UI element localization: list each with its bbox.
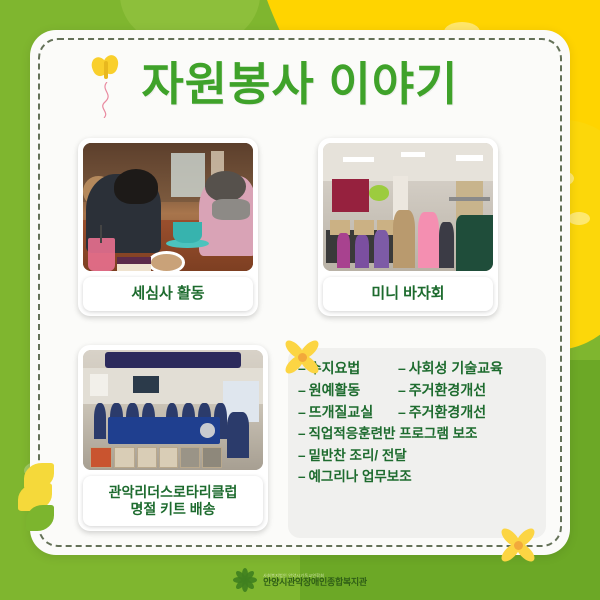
activity-item: –사회성 기술교육 xyxy=(398,360,503,376)
activity-row: –밑반찬 조리/ 전달 xyxy=(298,448,540,464)
background-dot xyxy=(568,212,590,225)
photo-mini-bazaar xyxy=(323,143,493,271)
photo-caption-line1: 관악리더스로타리클럽 xyxy=(109,484,238,502)
bullet-dash: – xyxy=(298,448,306,463)
bullet-dash: – xyxy=(298,382,306,398)
activity-item: –직업적응훈련반 프로그램 보조 xyxy=(298,426,477,442)
activity-item: –예그리나 업무보조 xyxy=(298,469,412,485)
activity-item: –원예활동 xyxy=(298,382,398,398)
activity-row: –수지요법 –사회성 기술교육 xyxy=(298,360,540,376)
page-title: 자원봉사 이야기 xyxy=(0,48,600,114)
activity-label: 사회성 기술교육 xyxy=(409,360,503,376)
photo-caption: 세심사 활동 xyxy=(83,277,253,311)
activity-label: 직업적응훈련반 프로그램 보조 xyxy=(309,426,478,441)
photo-rotary-donation xyxy=(83,350,263,470)
activity-list-panel: –수지요법 –사회성 기술교육 –원예활동 –주거환경개선 –뜨개질교실 –주거… xyxy=(288,348,546,538)
leaf-icon xyxy=(18,463,72,535)
photo-card-bazaar[interactable]: 미니 바자회 xyxy=(318,138,498,316)
bullet-dash: – xyxy=(398,360,406,376)
activity-label: 밑반찬 조리/ 전달 xyxy=(309,448,407,463)
activity-row: –원예활동 –주거환경개선 xyxy=(298,382,540,398)
footer: 사회복지법인 안양시기독교연합회 안양시관악장애인종합복지관 xyxy=(0,568,600,592)
activity-item: –주거환경개선 xyxy=(398,382,486,398)
activity-label: 주거환경개선 xyxy=(409,404,486,420)
bullet-dash: – xyxy=(398,382,406,398)
activity-row: –뜨개질교실 –주거환경개선 xyxy=(298,404,540,420)
footer-organization-name: 안양시관악장애인종합복지관 xyxy=(263,578,367,587)
activity-item: –뜨개질교실 xyxy=(298,404,398,420)
photo-card-sesimsa[interactable]: 세심사 활동 xyxy=(78,138,258,316)
photo-card-rotary[interactable]: 관악리더스로타리클럽 명절 키트 배송 xyxy=(78,345,268,531)
bullet-dash: – xyxy=(398,404,406,420)
poster: 자원봉사 이야기 세심사 활동 xyxy=(0,0,600,600)
bullet-dash: – xyxy=(298,404,306,420)
photo-caption-line2: 명절 키트 배송 xyxy=(109,501,238,519)
activity-label: 예그리나 업무보조 xyxy=(309,469,412,484)
flower-icon xyxy=(282,337,322,377)
activity-item: –주거환경개선 xyxy=(398,404,486,420)
organization-logo-icon xyxy=(233,568,257,592)
bullet-dash: – xyxy=(298,469,306,484)
photo-sesimsa-activity xyxy=(83,143,253,271)
activity-label: 주거환경개선 xyxy=(409,382,486,398)
activity-row: –예그리나 업무보조 xyxy=(298,469,540,485)
footer-text: 사회복지법인 안양시기독교연합회 안양시관악장애인종합복지관 xyxy=(263,574,367,587)
bullet-dash: – xyxy=(298,426,306,441)
activity-label: 원예활동 xyxy=(309,382,361,398)
activity-item: –밑반찬 조리/ 전달 xyxy=(298,448,407,464)
photo-caption: 관악리더스로타리클럽 명절 키트 배송 xyxy=(83,476,263,526)
photo-caption: 미니 바자회 xyxy=(323,277,493,311)
activity-label: 뜨개질교실 xyxy=(309,404,373,420)
activity-row: –직업적응훈련반 프로그램 보조 xyxy=(298,426,540,442)
flower-icon xyxy=(498,525,538,565)
